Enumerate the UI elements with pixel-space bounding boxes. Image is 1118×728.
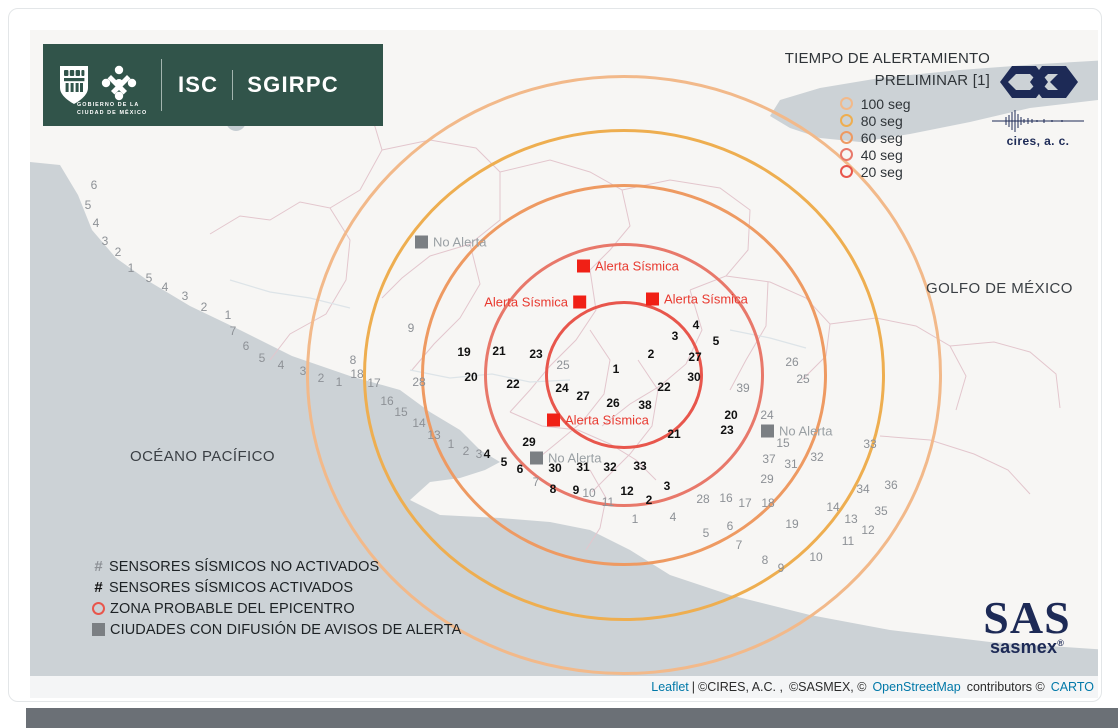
sensor-not-activated: 4 <box>670 511 677 523</box>
sensor-not-activated: 15 <box>776 437 789 449</box>
sensor-activated: 21 <box>492 345 505 357</box>
sensor-not-activated: 1 <box>128 262 135 274</box>
logo-divider-2 <box>232 70 233 100</box>
no-alerta-marker[interactable]: No Alerta <box>415 235 486 250</box>
sensor-not-activated: 25 <box>796 373 809 385</box>
leaflet-link[interactable]: Leaflet <box>651 680 689 694</box>
sensor-activated: 26 <box>606 397 619 409</box>
sensor-not-activated: 12 <box>861 524 874 536</box>
seismogram-icon <box>992 110 1084 132</box>
sensor-not-activated: 16 <box>719 492 732 504</box>
sensor-not-activated: 4 <box>278 359 285 371</box>
logo-divider-1 <box>161 59 162 111</box>
sensor-activated: 20 <box>724 409 737 421</box>
legend-item-label: 100 seg <box>861 96 911 112</box>
ring-swatch-icon <box>840 165 853 178</box>
legend-item-80s[interactable]: 80 seg <box>840 113 990 129</box>
sensor-not-activated: 35 <box>874 505 887 517</box>
sensor-activated: 12 <box>620 485 633 497</box>
sensor-activated: 27 <box>688 351 701 363</box>
sgirpc-label: SGIRPC <box>247 72 339 98</box>
openstreetmap-link[interactable]: OpenStreetMap <box>872 680 960 694</box>
sensor-activated: 19 <box>457 346 470 358</box>
sensor-not-activated: 18 <box>761 497 774 509</box>
alerta-sismica-marker[interactable]: Alerta Sísmica <box>646 292 748 307</box>
attribution-contributors: contributors © <box>967 680 1045 694</box>
sensor-not-activated: 5 <box>259 352 266 364</box>
map-legend-label: CIUDADES CON DIFUSIÓN DE AVISOS DE ALERT… <box>110 622 461 638</box>
sensor-not-activated: 5 <box>703 527 710 539</box>
crest-icon <box>57 64 91 106</box>
sensor-not-activated: 3 <box>300 365 307 377</box>
sensor-activated: 4 <box>693 319 700 331</box>
sensor-not-activated: 28 <box>412 376 425 388</box>
sensor-activated: 22 <box>506 378 519 390</box>
sensor-not-activated: 17 <box>367 377 380 389</box>
sensor-not-activated: 13 <box>427 429 440 441</box>
legend-rows: 100 seg80 seg60 seg40 seg20 seg <box>785 96 990 180</box>
sensor-not-activated: 36 <box>884 479 897 491</box>
hash-black-icon: # <box>92 579 105 596</box>
marker-label: Alerta Sísmica <box>664 292 748 307</box>
marker-square-icon <box>530 452 543 465</box>
sensor-not-activated: 7 <box>533 476 540 488</box>
isc-label: ISC <box>178 72 218 98</box>
ring-swatch-icon <box>840 114 853 127</box>
attribution-cires: ©CIRES, A.C. , <box>698 680 783 694</box>
sensor-activated: 1 <box>613 363 620 375</box>
sensor-not-activated: 28 <box>696 493 709 505</box>
sensor-not-activated: 1 <box>448 438 455 450</box>
map-legend: #SENSORES SÍSMICOS NO ACTIVADOS#SENSORES… <box>92 556 461 640</box>
attribution-sasmex: ©SASMEX, © <box>789 680 866 694</box>
map-legend-item: CIUDADES CON DIFUSIÓN DE AVISOS DE ALERT… <box>92 619 461 640</box>
sensor-not-activated: 13 <box>844 513 857 525</box>
sensor-activated: 21 <box>667 428 680 440</box>
gobierno-cdmx-logo: GOBIERNO DE LA CIUDAD DE MÉXICO ISC SGIR… <box>43 44 383 126</box>
sensor-not-activated: 6 <box>727 520 734 532</box>
sensor-not-activated: 5 <box>85 199 92 211</box>
sensor-not-activated: 34 <box>856 483 869 495</box>
cires-mark-icon <box>992 64 1084 104</box>
leaflet-map[interactable]: 6543215432176543218181716151413123928192… <box>30 30 1098 698</box>
sensor-not-activated: 6 <box>243 340 250 352</box>
sensor-not-activated: 17 <box>738 497 751 509</box>
sensor-not-activated: 11 <box>602 496 614 508</box>
sensor-not-activated: 3 <box>182 290 189 302</box>
legend-item-label: 20 seg <box>861 164 903 180</box>
sensor-not-activated: 33 <box>863 438 876 450</box>
geo-label: OCÉANO PACÍFICO <box>130 448 275 465</box>
marker-square-icon <box>547 414 560 427</box>
sensor-activated: 8 <box>550 483 557 495</box>
sensor-activated: 2 <box>646 494 653 506</box>
marker-label: Alerta Sísmica <box>565 413 649 428</box>
cires-name: cires, a. c. <box>990 134 1086 148</box>
sensor-not-activated: 7 <box>736 539 743 551</box>
sasmex-logo: SAS sasmex® <box>972 597 1082 658</box>
ring-swatch-icon <box>840 97 853 110</box>
sensor-not-activated: 14 <box>826 501 839 513</box>
sensor-not-activated: 4 <box>162 281 169 293</box>
ring-swatch-icon <box>840 148 853 161</box>
legend-item-label: 80 seg <box>861 113 903 129</box>
legend-item-60s[interactable]: 60 seg <box>840 130 990 146</box>
sensor-activated: 32 <box>603 461 616 473</box>
map-legend-item: #SENSORES SÍSMICOS NO ACTIVADOS <box>92 556 461 577</box>
sensor-not-activated: 8 <box>350 354 357 366</box>
marker-label: Alerta Sísmica <box>484 295 568 310</box>
cires-logo: cires, a. c. <box>990 64 1086 148</box>
sensor-activated: 33 <box>633 460 646 472</box>
attribution-pipe: | <box>692 680 695 694</box>
sensor-activated: 22 <box>657 381 670 393</box>
sensor-activated: 24 <box>555 382 568 394</box>
sensor-not-activated: 24 <box>760 409 773 421</box>
marker-label: Alerta Sísmica <box>595 259 679 274</box>
sensor-not-activated: 9 <box>408 322 415 334</box>
city-square-icon <box>92 623 105 636</box>
sensor-activated: 5 <box>501 456 508 468</box>
window-bottom-bar <box>26 708 1118 728</box>
sensor-not-activated: 18 <box>350 368 363 380</box>
sensor-not-activated: 10 <box>582 487 595 499</box>
map-legend-label: SENSORES SÍSMICOS NO ACTIVADOS <box>109 559 379 575</box>
epicenter-circle-icon <box>92 602 105 615</box>
legend-item-label: 40 seg <box>861 147 903 163</box>
legend-item-20s[interactable]: 20 seg <box>840 164 990 180</box>
sensor-activated: 6 <box>517 463 524 475</box>
no-alerta-marker[interactable]: No Alerta <box>761 424 832 439</box>
legend-title-line2: PRELIMINAR [1] <box>785 70 990 92</box>
legend-title-line1: TIEMPO DE ALERTAMIENTO <box>785 48 990 70</box>
sensor-activated: 3 <box>664 480 671 492</box>
sensor-not-activated: 5 <box>146 272 153 284</box>
ring-swatch-icon <box>840 131 853 144</box>
sensor-not-activated: 39 <box>736 382 749 394</box>
sensor-not-activated: 1 <box>632 513 639 525</box>
hash-gray-icon: # <box>92 558 105 575</box>
alerta-sismica-marker[interactable]: Alerta Sísmica <box>547 413 649 428</box>
sensor-activated: 5 <box>713 335 720 347</box>
sensor-activated: 20 <box>464 371 477 383</box>
map-legend-label: ZONA PROBABLE DEL EPICENTRO <box>110 601 355 617</box>
attribution-bar: Leaflet | ©CIRES, A.C. , ©SASMEX, © Open… <box>30 676 1098 698</box>
marker-label: No Alerta <box>779 424 832 439</box>
sensor-activated: 3 <box>672 330 679 342</box>
sensor-activated: 38 <box>638 399 651 411</box>
sensor-activated: 30 <box>687 371 700 383</box>
sensor-not-activated: 10 <box>809 551 822 563</box>
sensor-not-activated: 1 <box>225 309 232 321</box>
sensor-not-activated: 14 <box>412 417 425 429</box>
sensor-not-activated: 31 <box>784 458 797 470</box>
sensor-not-activated: 2 <box>463 445 470 457</box>
sensor-activated: 23 <box>529 348 542 360</box>
geo-label: GOLFO DE MÉXICO <box>926 280 1073 297</box>
sensor-not-activated: 29 <box>760 473 773 485</box>
sensor-not-activated: 2 <box>115 246 122 258</box>
sensor-not-activated: 7 <box>230 325 237 337</box>
sensor-activated: 29 <box>522 436 535 448</box>
map-legend-item: ZONA PROBABLE DEL EPICENTRO <box>92 598 461 619</box>
carto-link[interactable]: CARTO <box>1051 680 1094 694</box>
alert-time-legend: TIEMPO DE ALERTAMIENTO PRELIMINAR [1] 10… <box>785 48 990 181</box>
sensor-not-activated: 6 <box>91 179 98 191</box>
sensor-not-activated: 9 <box>778 562 785 574</box>
sensor-not-activated: 26 <box>785 356 798 368</box>
sas-wordmark: SAS <box>972 597 1082 639</box>
page-root: 6543215432176543218181716151413123928192… <box>0 0 1118 728</box>
marker-label: No Alerta <box>433 235 486 250</box>
sensor-not-activated: 1 <box>336 376 343 388</box>
sensor-not-activated: 4 <box>93 217 100 229</box>
legend-item-40s[interactable]: 40 seg <box>840 147 990 163</box>
sensor-not-activated: 2 <box>201 301 208 313</box>
sensor-not-activated: 15 <box>394 406 407 418</box>
legend-item-100s[interactable]: 100 seg <box>840 96 990 112</box>
sensor-not-activated: 11 <box>842 535 854 547</box>
sensor-not-activated: 3 <box>476 448 483 460</box>
alerta-sismica-marker[interactable]: Alerta Sísmica <box>577 259 679 274</box>
sensor-not-activated: 2 <box>318 372 325 384</box>
marker-square-icon <box>646 293 659 306</box>
sensor-not-activated: 37 <box>762 453 775 465</box>
map-legend-item: #SENSORES SÍSMICOS ACTIVADOS <box>92 577 461 598</box>
sensor-activated: 9 <box>573 484 580 496</box>
sensor-not-activated: 25 <box>556 359 569 371</box>
map-legend-label: SENSORES SÍSMICOS ACTIVADOS <box>109 580 353 596</box>
sensor-activated: 23 <box>720 424 733 436</box>
sensor-not-activated: 16 <box>380 395 393 407</box>
map-card: 6543215432176543218181716151413123928192… <box>8 8 1102 702</box>
sensor-not-activated: 3 <box>102 235 109 247</box>
marker-square-icon <box>577 260 590 273</box>
marker-square-icon <box>573 296 586 309</box>
marker-square-icon <box>761 425 774 438</box>
gobierno-text: GOBIERNO DE LA CIUDAD DE MÉXICO <box>77 101 147 117</box>
sensor-activated: 27 <box>576 390 589 402</box>
sensor-activated: 4 <box>484 448 491 460</box>
marker-label: No Alerta <box>548 451 601 466</box>
sensor-not-activated: 19 <box>785 518 798 530</box>
no-alerta-marker[interactable]: No Alerta <box>530 451 601 466</box>
legend-item-label: 60 seg <box>861 130 903 146</box>
sensor-activated: 2 <box>648 348 655 360</box>
alerta-sismica-marker[interactable]: Alerta Sísmica <box>484 295 586 310</box>
sensor-not-activated: 8 <box>762 554 769 566</box>
sensor-not-activated: 32 <box>810 451 823 463</box>
marker-square-icon <box>415 236 428 249</box>
